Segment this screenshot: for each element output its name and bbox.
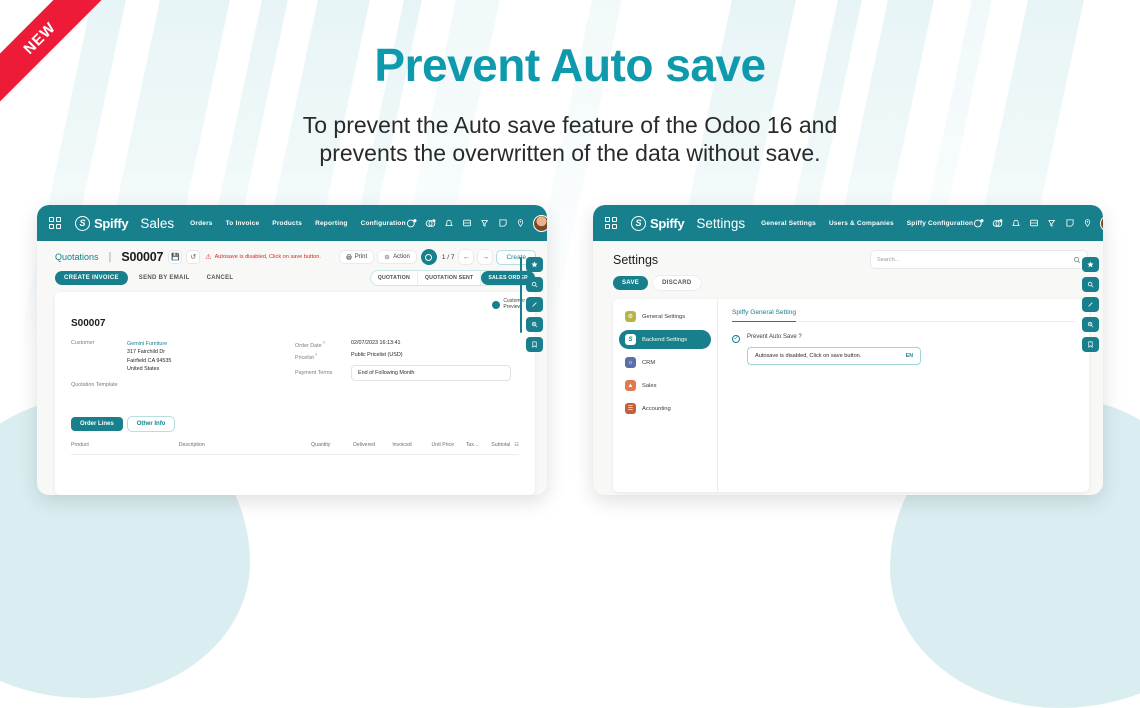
brand-name-settings: Spiffy — [650, 216, 684, 231]
sales-action-row: CREATE INVOICE SEND BY EMAIL CANCEL QUOT… — [37, 269, 547, 285]
sales-system-icons — [406, 215, 547, 232]
sidebar-label-accounting: Accounting — [642, 406, 671, 412]
brand-name-sales: Spiffy — [94, 216, 128, 231]
menu-item-configuration[interactable]: Configuration — [361, 220, 406, 227]
sidebar-label-crm: CRM — [642, 360, 655, 366]
menu-item-reporting[interactable]: Reporting — [315, 220, 348, 227]
tab-order-lines[interactable]: Order Lines — [71, 417, 123, 431]
app-name-sales: Sales — [140, 216, 174, 231]
page-subtitle-line1: To prevent the Auto save feature of the … — [303, 112, 838, 138]
new-ribbon: NEW — [0, 0, 118, 118]
arrow-left-icon[interactable]: ← — [459, 250, 473, 264]
note-icon[interactable] — [1065, 218, 1075, 228]
customer-preview-icon — [492, 301, 500, 309]
col-subtotal: Subtotal — [491, 442, 510, 448]
field-order-date-value[interactable]: 02/07/2023 16:13:41 — [351, 340, 400, 349]
page-title: Prevent Auto save — [0, 40, 1140, 91]
cancel-button[interactable]: CANCEL — [201, 271, 240, 285]
autosave-message-value: Autosave is disabled, Click on save butt… — [755, 353, 861, 359]
settings-system-icons — [973, 215, 1103, 232]
settings-search-box[interactable]: Search... — [871, 251, 1087, 268]
sidebar-label-general-settings: General Settings — [642, 314, 685, 320]
language-badge[interactable]: EN — [906, 353, 913, 359]
settings-topbar: S Spiffy Settings General Settings Users… — [593, 205, 1103, 241]
sheet-tabs: Order Lines Other Info — [71, 417, 519, 431]
discard-button[interactable]: DISCARD — [653, 276, 700, 290]
bell-icon[interactable] — [1011, 218, 1021, 228]
crm-icon: ☼ — [625, 357, 636, 368]
sheet-record-title: S00007 — [71, 318, 519, 329]
edit-icon[interactable] — [1082, 297, 1099, 312]
sidebar-item-sales[interactable]: ▲ Sales — [619, 376, 711, 395]
sales-app-screenshot: S Spiffy Sales Orders To Invoice Product… — [37, 205, 547, 495]
app-name-settings: Settings — [696, 216, 745, 231]
col-product: Product — [71, 442, 179, 448]
activities-icon[interactable] — [973, 218, 984, 229]
field-pricelist: Pricelist Public Pricelist (USD) — [295, 352, 519, 361]
field-customer-value: Gemini Furniture 317 Fairchild Dr Fairfi… — [127, 340, 171, 374]
settings-action-buttons: SAVE DISCARD — [613, 276, 1087, 290]
gear-icon — [384, 254, 390, 260]
status-bar: QUOTATION QUOTATION SENT SALES ORDER — [371, 271, 535, 285]
print-label: Print — [355, 254, 367, 260]
table-settings-icon[interactable]: ☷ — [514, 442, 519, 448]
warning-triangle-icon: ⚠ — [205, 253, 211, 261]
sales-vertical-toolbar — [526, 257, 543, 352]
field-order-date-label: Order Date — [295, 340, 351, 349]
print-icon — [346, 254, 352, 260]
action-label: Action — [393, 254, 410, 260]
settings-main-panel: Spiffy General Setting ✓ Prevent Auto Sa… — [718, 299, 1089, 492]
brand-logo-settings[interactable]: S Spiffy — [631, 216, 684, 231]
menu-item-users-companies[interactable]: Users & Companies — [829, 220, 894, 227]
status-indicator-button[interactable] — [421, 249, 437, 265]
edit-icon[interactable] — [526, 297, 543, 312]
menu-item-spiffy-configuration[interactable]: Spiffy Configuration — [907, 220, 973, 227]
field-payment-terms: Payment Terms End of Following Month — [295, 365, 519, 381]
menu-item-general-settings[interactable]: General Settings — [761, 220, 816, 227]
apps-icon[interactable] — [462, 218, 472, 228]
zoom-icon[interactable] — [1082, 317, 1099, 332]
sales-control-panel: Quotations | S00007 💾 ↺ ⚠ Autosave is di… — [37, 241, 547, 269]
field-order-date: Order Date 02/07/2023 16:13:41 — [295, 340, 519, 349]
breadcrumb-separator: | — [109, 251, 112, 263]
customer-address-line3: United States — [127, 366, 159, 372]
status-quotation[interactable]: QUOTATION — [371, 271, 418, 285]
pager-label: 1 / 7 — [442, 254, 455, 261]
action-button[interactable]: Action — [378, 251, 416, 263]
star-icon[interactable] — [526, 257, 543, 272]
menu-item-to-invoice[interactable]: To Invoice — [226, 220, 260, 227]
tab-other-info[interactable]: Other Info — [128, 417, 175, 431]
bookmark-icon[interactable] — [526, 337, 543, 352]
search-icon[interactable] — [1073, 256, 1081, 264]
gear-icon: ⚙ — [625, 311, 636, 322]
col-quantity: Quantity — [311, 442, 353, 448]
spiffy-logo-icon: S — [631, 216, 646, 231]
new-ribbon-label: NEW — [0, 0, 113, 112]
sales-topbar: S Spiffy Sales Orders To Invoice Product… — [37, 205, 547, 241]
spiffy-icon: S — [625, 334, 636, 345]
settings-vertical-toolbar — [1082, 257, 1099, 352]
page-subtitle: To prevent the Auto save feature of the … — [0, 111, 1140, 169]
sales-toolbar-rail — [520, 257, 522, 333]
pin-icon[interactable] — [516, 218, 525, 228]
sidebar-item-backend-settings[interactable]: S Backend Settings — [619, 330, 711, 349]
autosave-warning: ⚠ Autosave is disabled, Click on save bu… — [205, 253, 321, 261]
field-pricelist-value[interactable]: Public Pricelist (USD) — [351, 352, 403, 361]
menu-item-products[interactable]: Products — [272, 220, 302, 227]
col-tax: Tax... — [466, 442, 491, 448]
pin-icon[interactable] — [1083, 218, 1092, 228]
customer-address-line2: Fairfield CA 94535 — [127, 358, 171, 364]
star-icon[interactable] — [1082, 257, 1099, 272]
search-placeholder: Search... — [877, 257, 899, 263]
screenshot-row: S Spiffy Sales Orders To Invoice Product… — [0, 205, 1140, 495]
search-icon[interactable] — [1082, 277, 1099, 292]
send-by-email-button[interactable]: SEND BY EMAIL — [133, 271, 196, 285]
col-description: Description — [179, 442, 311, 448]
megaphone-icon[interactable] — [480, 218, 490, 228]
customer-name-link[interactable]: Gemini Furniture — [127, 341, 167, 347]
hero-section: Prevent Auto save To prevent the Auto sa… — [0, 0, 1140, 168]
sidebar-label-sales: Sales — [642, 383, 657, 389]
menu-item-orders[interactable]: Orders — [190, 220, 213, 227]
messages-icon[interactable] — [992, 218, 1003, 229]
col-unit-price: Unit Price — [432, 442, 466, 448]
sidebar-label-backend-settings: Backend Settings — [642, 337, 687, 343]
create-invoice-button[interactable]: CREATE INVOICE — [55, 271, 128, 285]
settings-section-header: Spiffy General Setting — [732, 309, 1075, 322]
field-pricelist-label: Pricelist — [295, 352, 351, 361]
record-id: S00007 — [121, 250, 163, 264]
save-button[interactable]: SAVE — [613, 276, 648, 290]
payment-terms-input[interactable]: End of Following Month — [351, 365, 511, 381]
autosave-message-input[interactable]: Autosave is disabled, Click on save butt… — [747, 347, 921, 365]
discard-icon[interactable]: ↺ — [187, 251, 199, 263]
megaphone-icon[interactable] — [1047, 218, 1057, 228]
avatar[interactable] — [1100, 215, 1103, 232]
col-invoiced: Invoiced — [392, 442, 431, 448]
quotation-sheet: Customer Preview S00007 Customer Gemini … — [55, 292, 535, 495]
settings-app-screenshot: S Spiffy Settings General Settings Users… — [593, 205, 1103, 495]
field-quotation-template-label: Quotation Template — [71, 382, 118, 388]
sidebar-item-accounting[interactable]: ☰ Accounting — [619, 399, 711, 418]
note-icon[interactable] — [498, 218, 508, 228]
prevent-auto-save-checkbox[interactable]: ✓ — [732, 335, 740, 343]
spiffy-logo-icon: S — [75, 216, 90, 231]
bookmark-icon[interactable] — [1082, 337, 1099, 352]
bell-icon[interactable] — [444, 218, 454, 228]
save-icon[interactable]: 💾 — [169, 251, 181, 263]
section-title-spiffy-general: Spiffy General Setting — [732, 309, 796, 322]
apps-grid-icon[interactable] — [605, 217, 617, 230]
avatar[interactable] — [533, 215, 547, 232]
customer-preview-line2: Preview — [503, 304, 521, 310]
breadcrumb-quotations[interactable]: Quotations — [55, 252, 99, 262]
order-lines-table-header: Product Description Quantity Delivered I… — [71, 442, 519, 455]
settings-menu: General Settings Users & Companies Spiff… — [761, 220, 973, 227]
zoom-icon[interactable] — [526, 317, 543, 332]
sales-menu: Orders To Invoice Products Reporting Con… — [190, 220, 406, 227]
brand-logo-sales[interactable]: S Spiffy — [75, 216, 128, 231]
sidebar-item-general-settings[interactable]: ⚙ General Settings — [619, 307, 711, 326]
sheet-fields-right: Order Date 02/07/2023 16:13:41 Pricelist… — [295, 340, 519, 391]
settings-body: ⚙ General Settings S Backend Settings ☼ … — [613, 299, 1089, 492]
prevent-auto-save-label: Prevent Auto Save ? — [747, 334, 1075, 340]
col-delivered: Delivered — [353, 442, 392, 448]
arrow-right-icon[interactable]: → — [478, 250, 492, 264]
field-customer-label: Customer — [71, 340, 127, 374]
field-quotation-template: Quotation Template — [71, 382, 295, 388]
field-payment-terms-label: Payment Terms — [295, 370, 351, 376]
sheet-fields: Customer Gemini Furniture 317 Fairchild … — [71, 340, 519, 391]
status-quotation-sent[interactable]: QUOTATION SENT — [418, 271, 481, 285]
autosave-warning-text: Autosave is disabled, Click on save butt… — [215, 254, 321, 260]
prevent-auto-save-option: ✓ Prevent Auto Save ? Autosave is disabl… — [732, 334, 1075, 365]
sidebar-item-crm[interactable]: ☼ CRM — [619, 353, 711, 372]
search-icon[interactable] — [526, 277, 543, 292]
control-right-group: Print Action 1 / 7 ← → Create — [340, 249, 535, 265]
apps-icon[interactable] — [1029, 218, 1039, 228]
customer-address-line1: 317 Fairchild Dr — [127, 349, 165, 355]
messages-icon[interactable] — [425, 218, 436, 229]
sales-icon: ▲ — [625, 380, 636, 391]
field-customer: Customer Gemini Furniture 317 Fairchild … — [71, 340, 295, 374]
activities-icon[interactable] — [406, 218, 417, 229]
apps-grid-icon[interactable] — [49, 217, 61, 230]
settings-sidebar: ⚙ General Settings S Backend Settings ☼ … — [613, 299, 718, 492]
page-subtitle-line2: prevents the overwritten of the data wit… — [319, 140, 820, 166]
accounting-icon: ☰ — [625, 403, 636, 414]
sheet-fields-left: Customer Gemini Furniture 317 Fairchild … — [71, 340, 295, 391]
print-button[interactable]: Print — [340, 251, 373, 263]
